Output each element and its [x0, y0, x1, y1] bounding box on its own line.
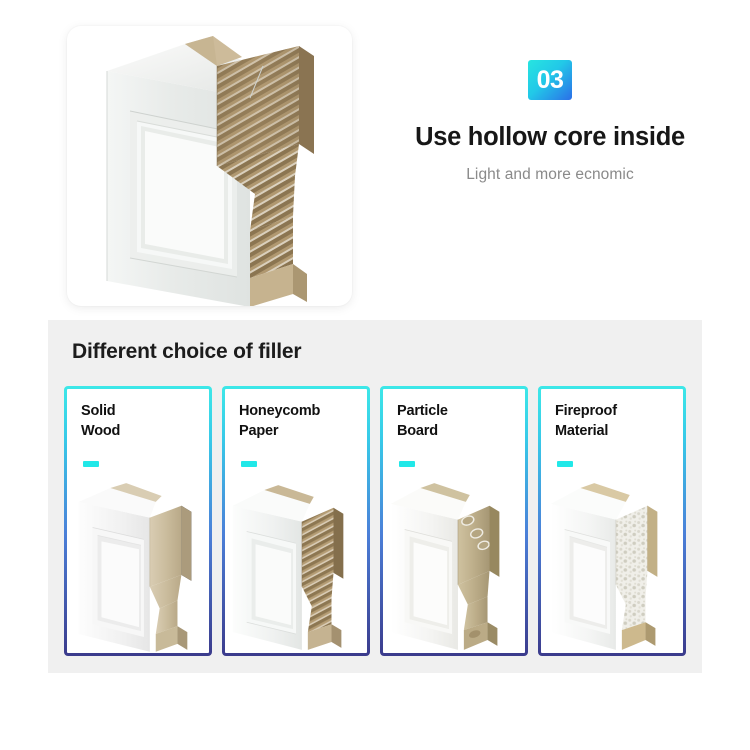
filler-card-solid-wood[interactable]: Solid Wood — [64, 386, 212, 656]
hero-text-block: 03 Use hollow core inside Light and more… — [395, 60, 705, 184]
hero-title: Use hollow core inside — [395, 123, 705, 152]
filler-card-title-line2: Board — [397, 423, 438, 439]
filler-card-fireproof-material[interactable]: Fireproof Material — [538, 386, 686, 656]
filler-card-title-line2: Wood — [81, 423, 120, 439]
panel-title: Different choice of filler — [72, 340, 301, 364]
filler-card-title: Solid Wood — [81, 401, 203, 441]
accent-dash-icon — [557, 461, 573, 467]
accent-dash-icon — [241, 461, 257, 467]
accent-dash-icon — [83, 461, 99, 467]
filler-card-title-line1: Honeycomb — [239, 403, 320, 419]
filler-card-title-line2: Material — [555, 423, 608, 439]
fireproof-material-core-image — [539, 475, 685, 655]
step-number-badge: 03 — [528, 60, 572, 100]
filler-card-title-line2: Paper — [239, 423, 278, 439]
hollow-core-door-cross-section-image — [67, 26, 352, 306]
hero-section: 03 Use hollow core inside Light and more… — [0, 0, 750, 318]
accent-dash-icon — [399, 461, 415, 467]
filler-cards-row: Solid Wood — [64, 386, 686, 656]
filler-card-honeycomb-paper[interactable]: Honeycomb Paper — [222, 386, 370, 656]
particle-board-core-image — [381, 475, 527, 655]
filler-card-title-line1: Solid — [81, 403, 115, 419]
filler-card-title: Honeycomb Paper — [239, 401, 361, 441]
hero-subtitle: Light and more ecnomic — [395, 166, 705, 184]
filler-card-title-line1: Particle — [397, 403, 448, 419]
filler-card-title-line1: Fireproof — [555, 403, 617, 419]
filler-card-title: Fireproof Material — [555, 401, 677, 441]
filler-card-particle-board[interactable]: Particle Board — [380, 386, 528, 656]
honeycomb-paper-core-image — [223, 475, 369, 655]
filler-card-title: Particle Board — [397, 401, 519, 441]
solid-wood-core-image — [65, 475, 211, 655]
hero-image-card — [67, 26, 352, 306]
filler-options-panel: Different choice of filler Solid Wood — [48, 320, 702, 673]
